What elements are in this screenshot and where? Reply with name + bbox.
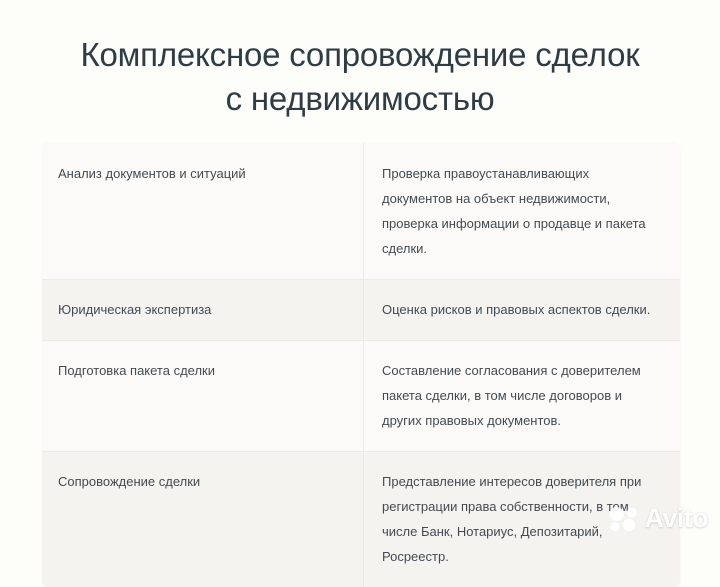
- page-title: Комплексное сопровождение сделок с недви…: [40, 33, 680, 121]
- table-row: Анализ документов и ситуаций Проверка пр…: [42, 143, 680, 279]
- table-row-term: Юридическая экспертиза: [58, 297, 344, 322]
- table-row: Юридическая экспертиза Оценка рисков и п…: [42, 279, 680, 340]
- table-row-description: Проверка правоустанавливающих документов…: [382, 161, 656, 261]
- table-row: Сопровождение сделки Представление интер…: [42, 451, 680, 587]
- table-row-term: Анализ документов и ситуаций: [58, 161, 344, 186]
- table-cell-term: Юридическая экспертиза: [42, 279, 364, 340]
- table-cell-description: Представление интересов доверителя при р…: [364, 451, 680, 587]
- table-row-description: Представление интересов доверителя при р…: [382, 469, 656, 569]
- page-root: Комплексное сопровождение сделок с недви…: [0, 0, 720, 540]
- table-cell-term: Подготовка пакета сделки: [42, 340, 364, 451]
- table-row-description: Оценка рисков и правовых аспектов сделки…: [382, 297, 656, 322]
- table-cell-description: Оценка рисков и правовых аспектов сделки…: [364, 279, 680, 340]
- services-table: Анализ документов и ситуаций Проверка пр…: [42, 143, 680, 587]
- table-row-term: Сопровождение сделки: [58, 469, 344, 494]
- table-row-term: Подготовка пакета сделки: [58, 358, 344, 383]
- table-cell-term: Сопровождение сделки: [42, 451, 364, 587]
- table-cell-description: Составление согласования с доверителем п…: [364, 340, 680, 451]
- table-cell-description: Проверка правоустанавливающих документов…: [364, 143, 680, 279]
- table-cell-term: Анализ документов и ситуаций: [42, 143, 364, 279]
- page-title-block: Комплексное сопровождение сделок с недви…: [40, 33, 680, 121]
- table-row: Подготовка пакета сделки Составление сог…: [42, 340, 680, 451]
- table-row-description: Составление согласования с доверителем п…: [382, 358, 656, 433]
